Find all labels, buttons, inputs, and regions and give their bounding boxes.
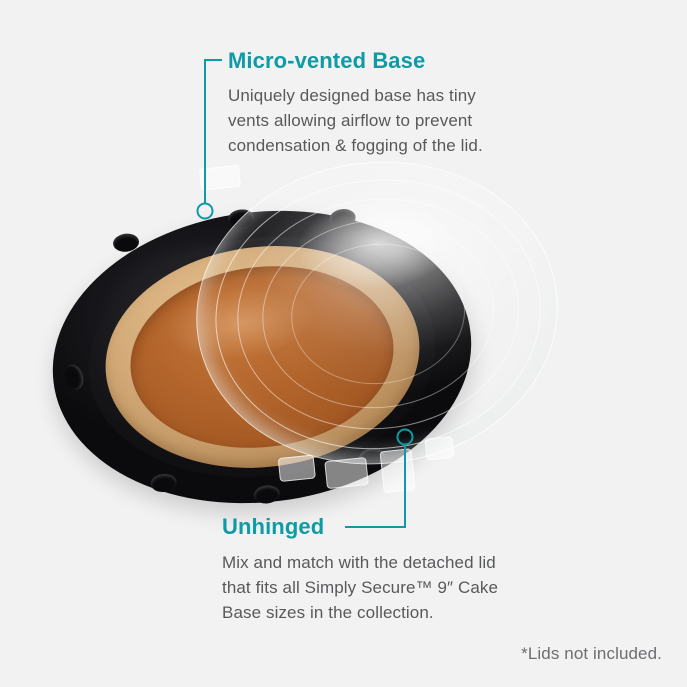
product-photo [0,150,687,510]
callout-unhinged: Unhinged Mix and match with the detached… [222,514,498,625]
callout-body-line: vents allowing airflow to prevent [228,108,483,133]
callout-body: Uniquely designed base has tiny vents al… [228,83,483,158]
lid-foot [278,454,316,482]
callout-body-line: Mix and match with the detached lid [222,550,498,575]
lid-foot [424,436,454,461]
lid-foot [324,457,369,489]
infographic-canvas: Micro-vented Base Uniquely designed base… [0,0,687,687]
callout-body-line: Uniquely designed base has tiny [228,83,483,108]
callout-body-line: Base sizes in the collection. [222,600,498,625]
callout-micro-vented-base: Micro-vented Base Uniquely designed base… [228,48,483,158]
callout-body-line: that fits all Simply Secure™ 9″ Cake [222,575,498,600]
rim-notch [150,473,178,494]
lid-tab [199,165,241,191]
callout-body: Mix and match with the detached lid that… [222,550,498,625]
rim-notch [253,484,281,505]
footnote: *Lids not included. [521,644,662,664]
lid-foot [379,448,415,493]
callout-heading: Unhinged [222,514,498,540]
callout-heading: Micro-vented Base [228,48,483,74]
rim-notch [62,362,87,392]
rim-notch [112,232,140,253]
callout-body-line: condensation & fogging of the lid. [228,133,483,158]
